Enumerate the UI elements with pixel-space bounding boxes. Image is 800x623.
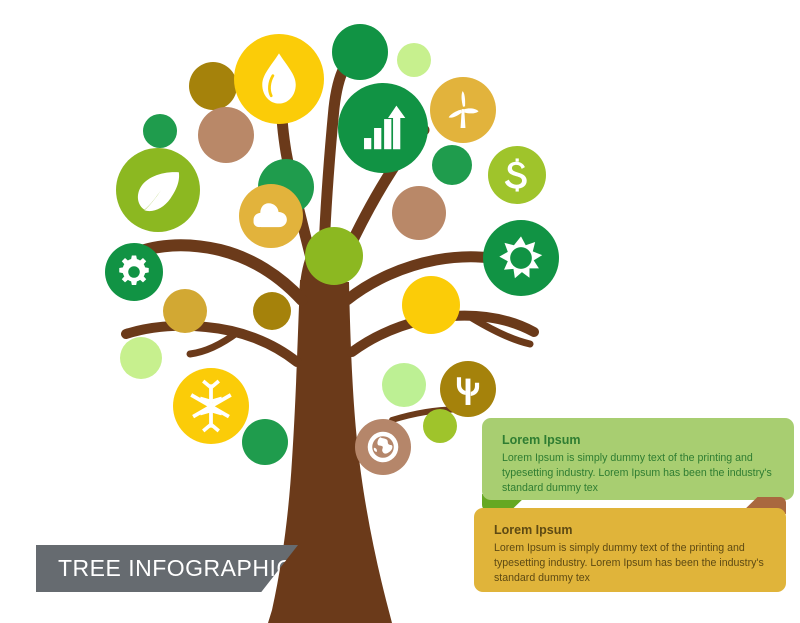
- circle-green-left: [242, 419, 288, 465]
- callout-card-green-body: Lorem Ipsum is simply dummy text of the …: [502, 451, 772, 496]
- infographic-canvas: TREE INFOGRAPHIC Lorem Ipsum Lorem Ipsum…: [0, 0, 800, 623]
- globe-node[interactable]: [355, 419, 411, 475]
- circle-green-top: [332, 24, 388, 80]
- leaf-node[interactable]: [116, 148, 200, 232]
- tree-graphic: [126, 68, 534, 623]
- gear-node[interactable]: [105, 243, 163, 301]
- title-banner: TREE INFOGRAPHIC: [36, 545, 298, 592]
- circle-tan-2: [392, 186, 446, 240]
- gear-icon: [119, 255, 148, 284]
- circle-olive-left: [163, 289, 207, 333]
- callout-card-gold[interactable]: Lorem Ipsum Lorem Ipsum is simply dummy …: [474, 508, 786, 592]
- callout-card-green[interactable]: Lorem Ipsum Lorem Ipsum is simply dummy …: [482, 418, 794, 500]
- circle-leafgreen-1: [305, 227, 363, 285]
- circle-olive-2: [253, 292, 291, 330]
- circle-tan-1: [198, 107, 254, 163]
- page-title: TREE INFOGRAPHIC: [36, 555, 293, 582]
- circle-leafgreen-2: [423, 409, 457, 443]
- snowflake-node[interactable]: [173, 368, 249, 444]
- circle-pale-mid: [382, 363, 426, 407]
- sun-node[interactable]: [483, 220, 559, 296]
- callout-card-gold-title: Lorem Ipsum: [494, 522, 764, 539]
- bar-chart-node[interactable]: [338, 83, 428, 173]
- callout-card-green-title: Lorem Ipsum: [502, 432, 772, 449]
- circle-pale-top: [397, 43, 431, 77]
- water-drop-node[interactable]: [234, 34, 324, 124]
- bar-chart-node-circle: [338, 83, 428, 173]
- callout-card-gold-body: Lorem Ipsum is simply dummy text of the …: [494, 541, 764, 586]
- circle-green-small-1: [143, 114, 177, 148]
- circle-pale-left: [120, 337, 162, 379]
- cactus-node[interactable]: [440, 361, 496, 417]
- branch-center: [324, 68, 344, 250]
- circle-olive-top: [189, 62, 237, 110]
- circle-yellow-mid: [402, 276, 460, 334]
- branch-left-tip: [190, 332, 238, 354]
- cloud-node[interactable]: [239, 184, 303, 248]
- circle-green-small-2: [432, 145, 472, 185]
- wind-turbine-node[interactable]: [430, 77, 496, 143]
- dollar-node[interactable]: [488, 146, 546, 204]
